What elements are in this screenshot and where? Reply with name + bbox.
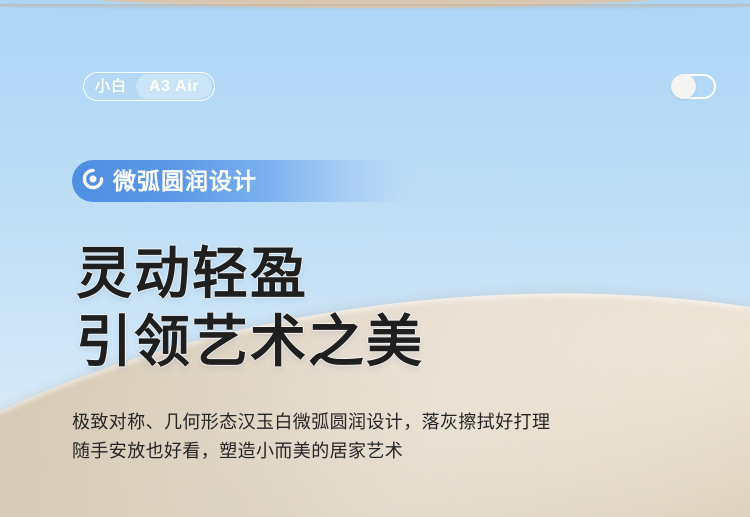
body-copy: 极致对称、几何形态汉玉白微弧圆润设计，落灰擦拭好打理 随手安放也好看，塑造小而美… (72, 408, 550, 466)
body-copy-line-1: 极致对称、几何形态汉玉白微弧圆润设计，落灰擦拭好打理 (72, 408, 550, 437)
headline-line-2: 引领艺术之美 (76, 308, 424, 376)
power-toggle-switch[interactable] (673, 74, 716, 99)
top-section-strip-shadow (0, 4, 750, 10)
feature-banner: 微弧圆润设计 (72, 160, 422, 202)
body-copy-line-2: 随手安放也好看，塑造小而美的居家艺术 (72, 437, 550, 466)
ring-arc-icon (81, 167, 105, 196)
toggle-knob (671, 74, 696, 99)
page-headline: 灵动轻盈 引领艺术之美 (76, 240, 424, 377)
headline-line-1: 灵动轻盈 (76, 240, 424, 308)
model-series-label: 小白 (84, 79, 136, 94)
promo-page: 小白 A3 Air 微弧圆润设计 灵动轻盈 引领艺术之美 极致对称、几何形态汉玉… (0, 0, 750, 517)
model-badge: 小白 A3 Air (83, 72, 215, 101)
feature-banner-label: 微弧圆润设计 (113, 170, 257, 193)
model-sku-label: A3 Air (136, 74, 212, 99)
